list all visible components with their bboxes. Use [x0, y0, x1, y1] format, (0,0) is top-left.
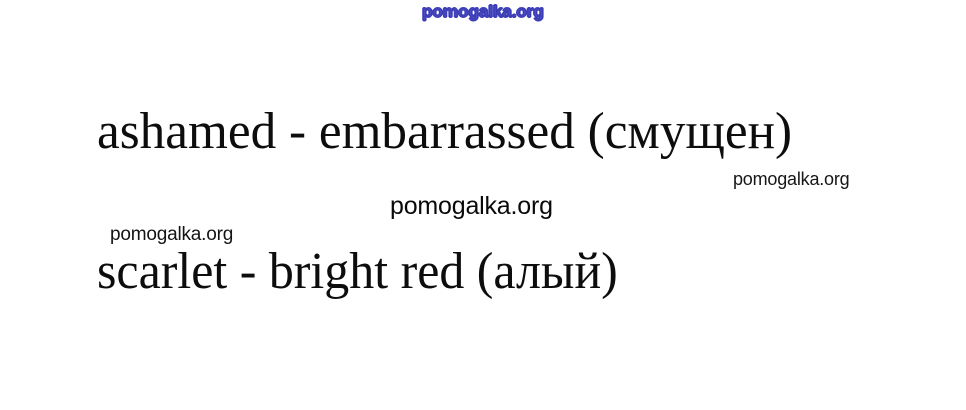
- watermark-right: pomogalka.org: [733, 170, 849, 188]
- vocabulary-entry-scarlet: scarlet - bright red (алый): [97, 246, 618, 298]
- vocabulary-entry-ashamed: ashamed - embarrassed (смущен): [97, 106, 792, 158]
- watermark-center: pomogalka.org: [390, 194, 553, 219]
- page-canvas: pomogalka.org ashamed - embarrassed (сму…: [0, 0, 966, 410]
- watermark-left: pomogalka.org: [110, 225, 233, 244]
- watermark-top: pomogalka.org: [422, 3, 544, 20]
